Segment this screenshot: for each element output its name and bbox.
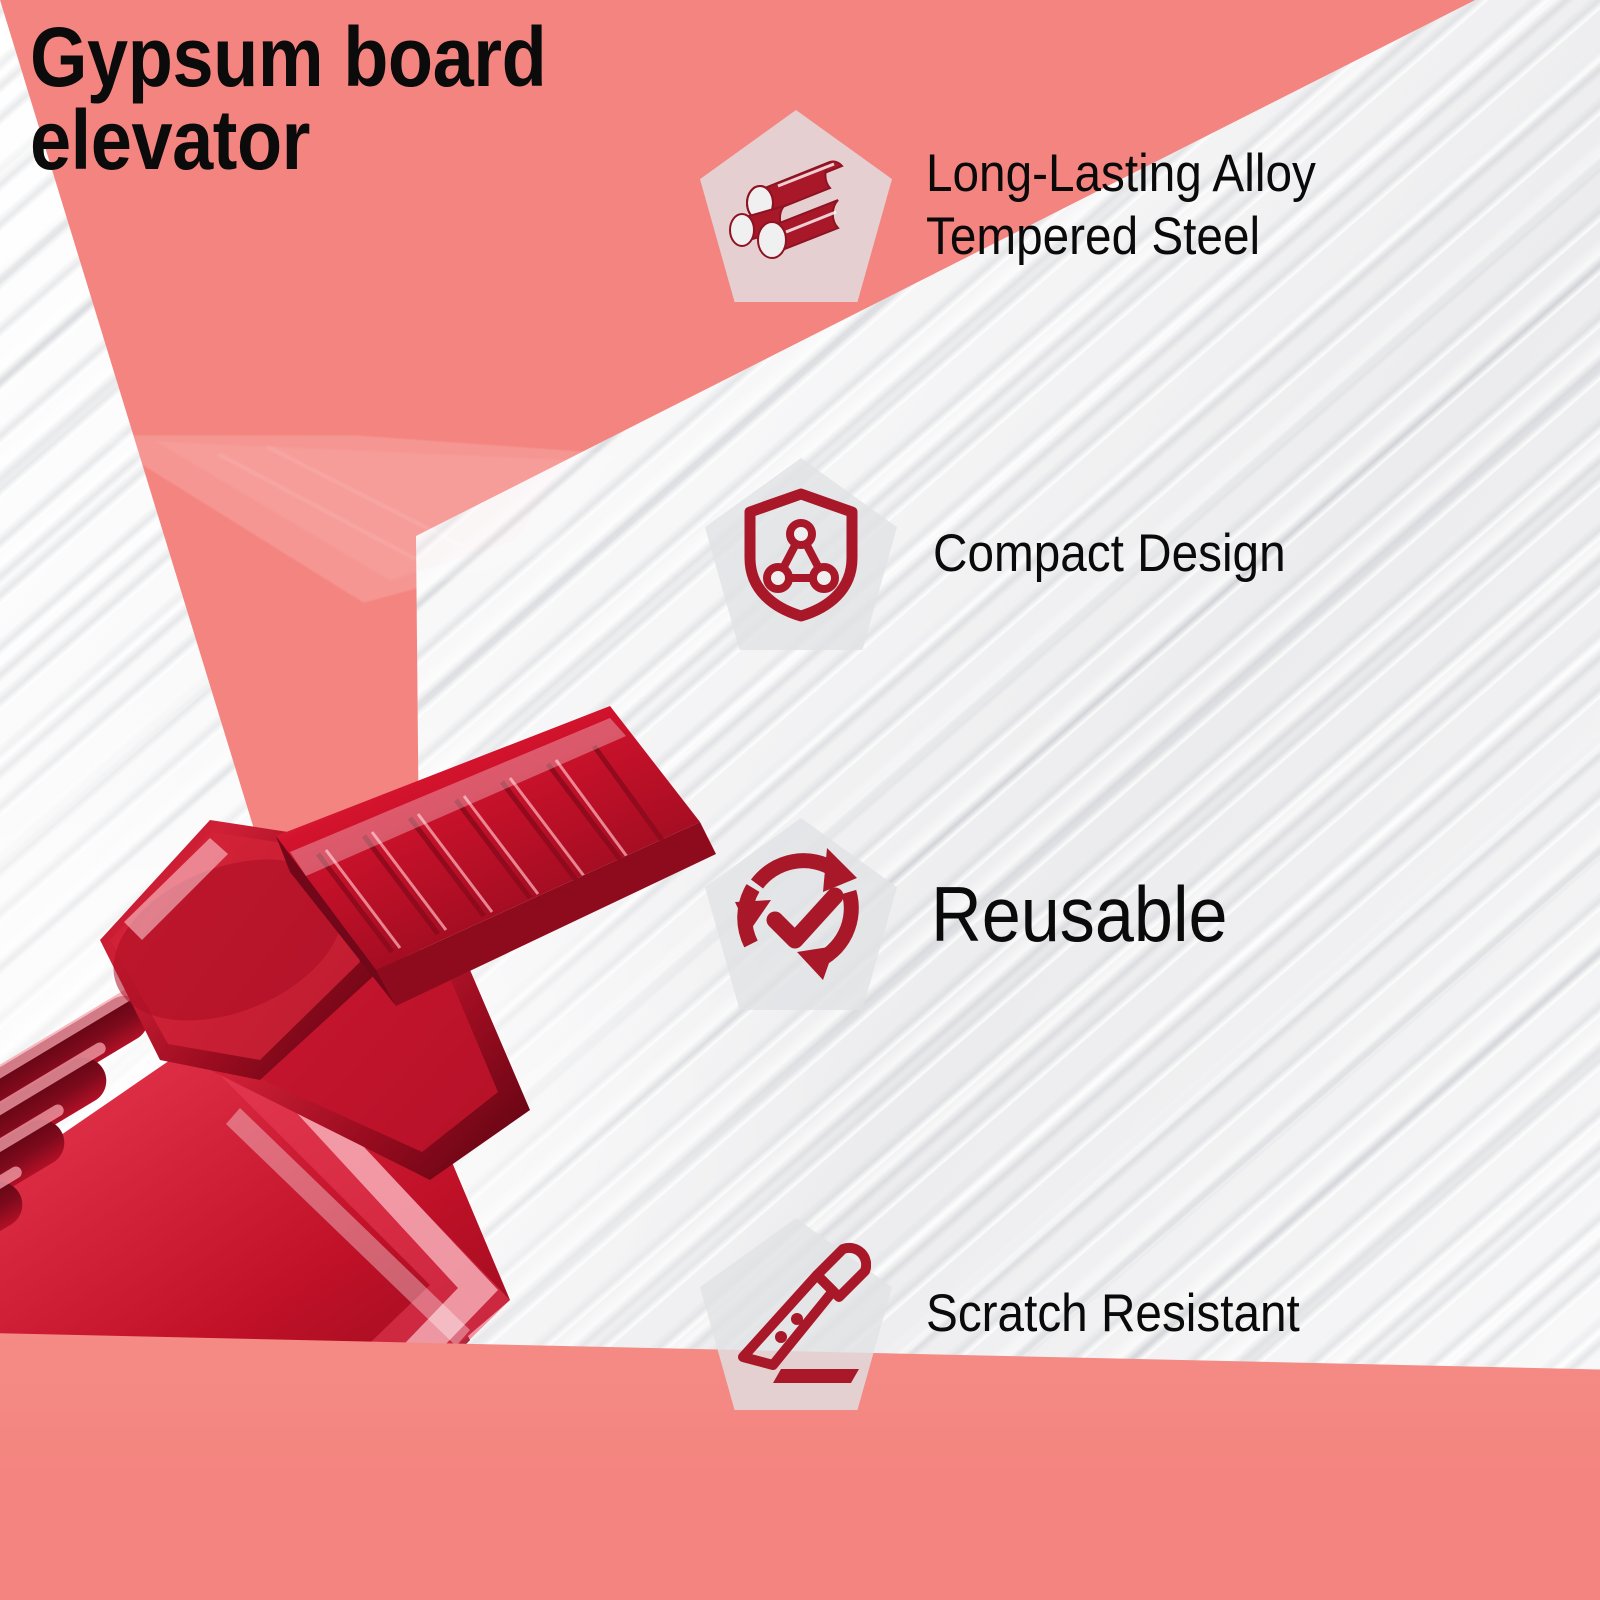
feature-badge [700,110,892,302]
infographic-canvas: Gypsum board elevator [0,0,1600,1600]
page-title: Gypsum board elevator [30,16,546,182]
feature-item-scratch-resistant: Scratch Resistant [700,1218,1341,1410]
feature-label: Reusable [931,868,1228,960]
recycle-check-icon [727,840,875,988]
product-reflection [95,435,750,640]
feature-badge [700,1218,892,1410]
metal-rods-icon [726,146,866,266]
feature-label: Compact Design [933,523,1286,586]
shield-triangle-icon [738,484,864,624]
feature-label: Long-Lasting Alloy Tempered Steel [926,143,1316,268]
feature-label: Scratch Resistant [926,1283,1300,1346]
feature-badge [705,818,897,1010]
feature-item-reusable: Reusable [705,818,1261,1010]
knife-scratch-icon [721,1241,871,1387]
feature-item-long-lasting-alloy: Long-Lasting Alloy Tempered Steel [700,110,1359,302]
feature-item-compact-design: Compact Design [705,458,1325,650]
feature-badge [705,458,897,650]
